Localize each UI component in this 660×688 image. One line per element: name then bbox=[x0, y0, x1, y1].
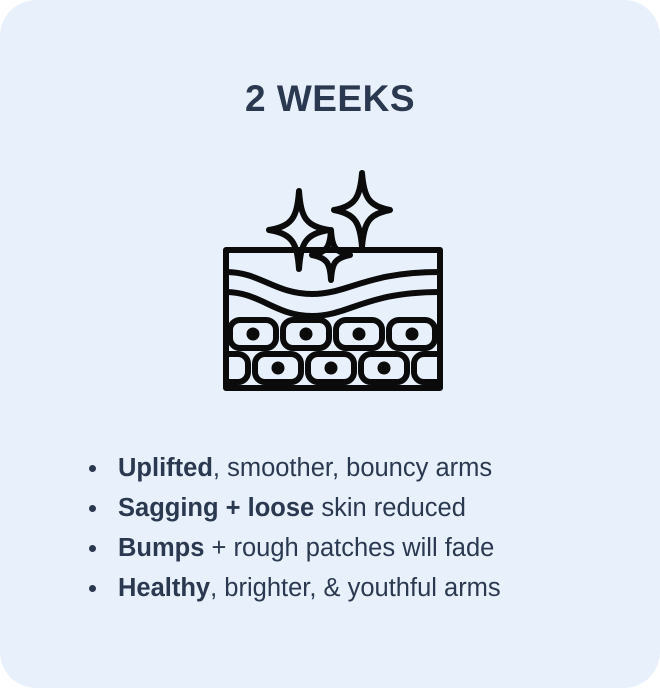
page-title: 2 WEEKS bbox=[0, 80, 660, 117]
bullet-icon bbox=[89, 585, 96, 592]
list-item: Uplifted, smoother, bouncy arms bbox=[78, 448, 598, 488]
sparkle-icon-small-middle bbox=[312, 230, 350, 280]
list-item: Healthy, brighter, & youthful arms bbox=[78, 568, 598, 608]
skin-layers-sparkle-illustration bbox=[205, 168, 455, 396]
benefit-text: + rough patches will fade bbox=[204, 534, 494, 562]
benefit-highlight: Healthy bbox=[118, 574, 210, 602]
benefit-text: , brighter, & youthful arms bbox=[210, 574, 501, 602]
list-item: Bumps + rough patches will fade bbox=[78, 528, 598, 568]
bullet-icon bbox=[89, 465, 96, 472]
benefit-text: skin reduced bbox=[314, 494, 466, 522]
benefit-highlight: Bumps bbox=[118, 534, 204, 562]
benefit-highlight: Uplifted bbox=[118, 454, 213, 482]
benefit-highlight: Sagging + loose bbox=[118, 494, 314, 522]
skin-layers-svg bbox=[205, 168, 455, 396]
list-item: Sagging + loose skin reduced bbox=[78, 488, 598, 528]
skin-cell-row-2 bbox=[205, 354, 455, 382]
bullet-icon bbox=[89, 505, 96, 512]
skin-cell-row-1 bbox=[230, 320, 435, 348]
sparkle-icon-large-right bbox=[334, 173, 390, 247]
two-weeks-benefits-card: 2 WEEKS bbox=[0, 0, 660, 688]
benefit-text: , smoother, bouncy arms bbox=[213, 454, 492, 482]
bullet-icon bbox=[89, 545, 96, 552]
benefits-list: Uplifted, smoother, bouncy arms Sagging … bbox=[78, 448, 598, 608]
skin-wave-line-bottom bbox=[226, 292, 440, 316]
